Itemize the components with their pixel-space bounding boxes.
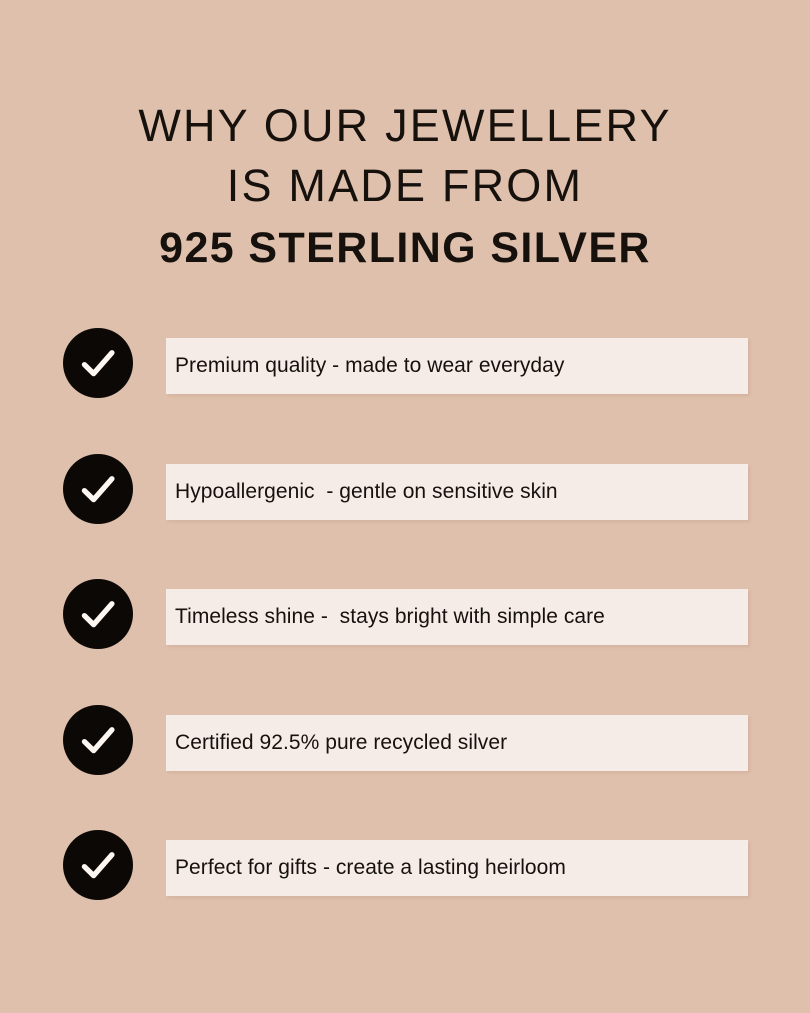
- headline-line-2: IS MADE FROM: [0, 156, 810, 216]
- poster-canvas: WHY OUR JEWELLERY IS MADE FROM 925 STERL…: [0, 0, 810, 1013]
- list-item: Perfect for gifts - create a lasting hei…: [0, 830, 810, 900]
- check-icon: [63, 454, 133, 524]
- page-title: WHY OUR JEWELLERY IS MADE FROM 925 STERL…: [0, 96, 810, 278]
- feature-bar: Timeless shine - stays bright with simpl…: [166, 589, 748, 645]
- check-icon: [63, 328, 133, 398]
- headline-line-3: 925 STERLING SILVER: [0, 218, 810, 278]
- check-icon: [63, 579, 133, 649]
- feature-bar: Perfect for gifts - create a lasting hei…: [166, 840, 748, 896]
- list-item: Premium quality - made to wear everyday: [0, 328, 810, 398]
- feature-bar: Premium quality - made to wear everyday: [166, 338, 748, 394]
- list-item: Timeless shine - stays bright with simpl…: [0, 579, 810, 649]
- check-icon: [63, 830, 133, 900]
- feature-text: Certified 92.5% pure recycled silver: [175, 730, 507, 756]
- check-icon: [63, 705, 133, 775]
- feature-bar: Certified 92.5% pure recycled silver: [166, 715, 748, 771]
- headline-line-1: WHY OUR JEWELLERY: [0, 96, 810, 156]
- list-item: Hypoallergenic - gentle on sensitive ski…: [0, 454, 810, 524]
- feature-text: Timeless shine - stays bright with simpl…: [175, 604, 605, 630]
- feature-list: Premium quality - made to wear everyday …: [0, 328, 810, 900]
- feature-text: Hypoallergenic - gentle on sensitive ski…: [175, 479, 558, 505]
- feature-text: Perfect for gifts - create a lasting hei…: [175, 855, 566, 881]
- list-item: Certified 92.5% pure recycled silver: [0, 705, 810, 775]
- feature-text: Premium quality - made to wear everyday: [175, 353, 564, 379]
- feature-bar: Hypoallergenic - gentle on sensitive ski…: [166, 464, 748, 520]
